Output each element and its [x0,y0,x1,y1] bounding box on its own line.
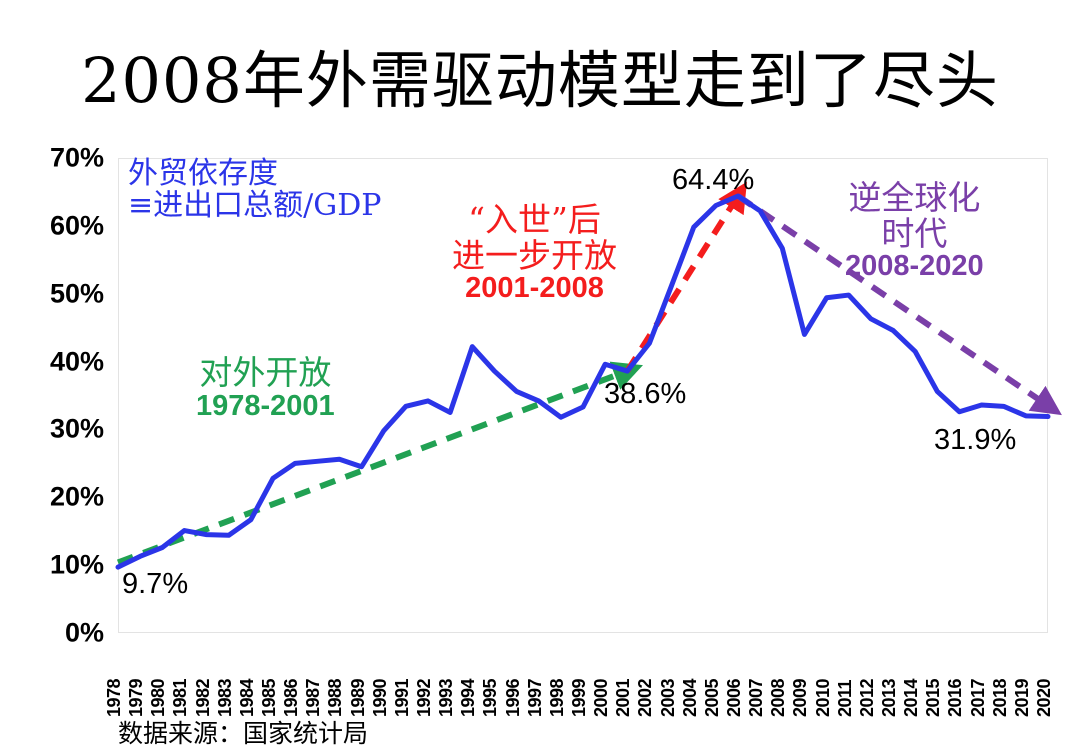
annotation-wto-accession: “入世”后 进一步开放 2001-2008 [452,202,617,305]
x-axis-tick-2018: 2018 [990,679,1011,717]
page-title: 2008年外需驱动模型走到了尽头 [0,50,1080,112]
x-axis-tick-2007: 2007 [746,679,767,717]
x-axis-tick-1993: 1993 [436,679,457,717]
y-axis-tick-60: 60% [50,210,104,241]
y-axis-tick-0: 0% [65,618,104,649]
x-axis-tick-1987: 1987 [303,679,324,717]
x-axis-tick-2017: 2017 [968,679,989,717]
x-axis-tick-1995: 1995 [480,679,501,717]
x-axis-tick-1985: 1985 [259,679,280,717]
x-axis-tick-2000: 2000 [591,679,612,717]
data-label-peak: 64.4% [672,164,754,197]
annotation-purple-text-2: 时代 [845,216,984,252]
x-axis-tick-1984: 1984 [237,679,258,717]
x-axis-tick-2010: 2010 [813,679,834,717]
x-axis: 1978197919801981198219831984198519861987… [118,637,1048,717]
x-axis-tick-1978: 1978 [104,679,125,717]
annotation-green-text: 对外开放 [196,355,335,391]
x-axis-tick-1994: 1994 [458,679,479,717]
x-axis-tick-1983: 1983 [215,679,236,717]
x-axis-tick-2012: 2012 [857,679,878,717]
annotation-red-text-1: “入世”后 [452,202,617,238]
x-axis-tick-2003: 2003 [658,679,679,717]
y-axis-tick-30: 30% [50,414,104,445]
data-label-start: 9.7% [122,568,188,601]
x-axis-tick-1992: 1992 [414,679,435,717]
legend-line-2: ≡进出口总额/GDP [128,190,381,222]
x-axis-tick-1998: 1998 [547,679,568,717]
x-axis-tick-2016: 2016 [945,679,966,717]
x-axis-tick-1989: 1989 [348,679,369,717]
legend-line-1: 外贸依存度 [128,158,381,190]
x-axis-tick-1982: 1982 [193,679,214,717]
x-axis-tick-2015: 2015 [923,679,944,717]
y-axis-tick-70: 70% [50,143,104,174]
x-axis-tick-1981: 1981 [170,679,191,717]
data-label-end: 31.9% [934,424,1016,457]
source-note: 数据来源：国家统计局 [118,714,368,750]
y-axis-tick-10: 10% [50,550,104,581]
x-axis-tick-2013: 2013 [879,679,900,717]
x-axis-tick-2001: 2001 [613,679,634,717]
x-axis-tick-1997: 1997 [525,679,546,717]
y-axis-tick-50: 50% [50,278,104,309]
annotation-red-text-2: 进一步开放 [452,238,617,274]
x-axis-tick-1990: 1990 [370,679,391,717]
x-axis-tick-2006: 2006 [724,679,745,717]
annotation-red-years: 2001-2008 [452,273,617,304]
x-axis-tick-2014: 2014 [901,679,922,717]
annotation-purple-text-1: 逆全球化 [845,180,984,216]
x-axis-tick-1988: 1988 [325,679,346,717]
annotation-deglobalization: 逆全球化 时代 2008-2020 [845,180,984,283]
x-axis-tick-2005: 2005 [702,679,723,717]
y-axis-tick-40: 40% [50,346,104,377]
x-axis-tick-2011: 2011 [835,680,856,717]
x-axis-tick-2009: 2009 [790,679,811,717]
x-axis-tick-2004: 2004 [680,679,701,717]
x-axis-tick-1986: 1986 [281,679,302,717]
chart-page: 2008年外需驱动模型走到了尽头 0%10%20%30%40%50%60%70%… [0,0,1080,752]
annotation-green-years: 1978-2001 [196,391,335,422]
legend-block: 外贸依存度 ≡进出口总额/GDP [128,158,381,223]
x-axis-tick-2020: 2020 [1034,679,1055,717]
x-axis-tick-1980: 1980 [148,679,169,717]
x-axis-tick-2019: 2019 [1012,679,1033,717]
x-axis-tick-1996: 1996 [503,679,524,717]
x-axis-tick-1999: 1999 [569,679,590,717]
x-axis-tick-2008: 2008 [768,679,789,717]
annotation-reform-opening: 对外开放 1978-2001 [196,355,335,422]
data-label-wto: 38.6% [604,378,686,411]
x-axis-tick-1991: 1991 [392,679,413,717]
annotation-purple-years: 2008-2020 [845,251,984,282]
x-axis-tick-1979: 1979 [126,679,147,717]
y-axis-tick-20: 20% [50,482,104,513]
x-axis-tick-2002: 2002 [635,679,656,717]
